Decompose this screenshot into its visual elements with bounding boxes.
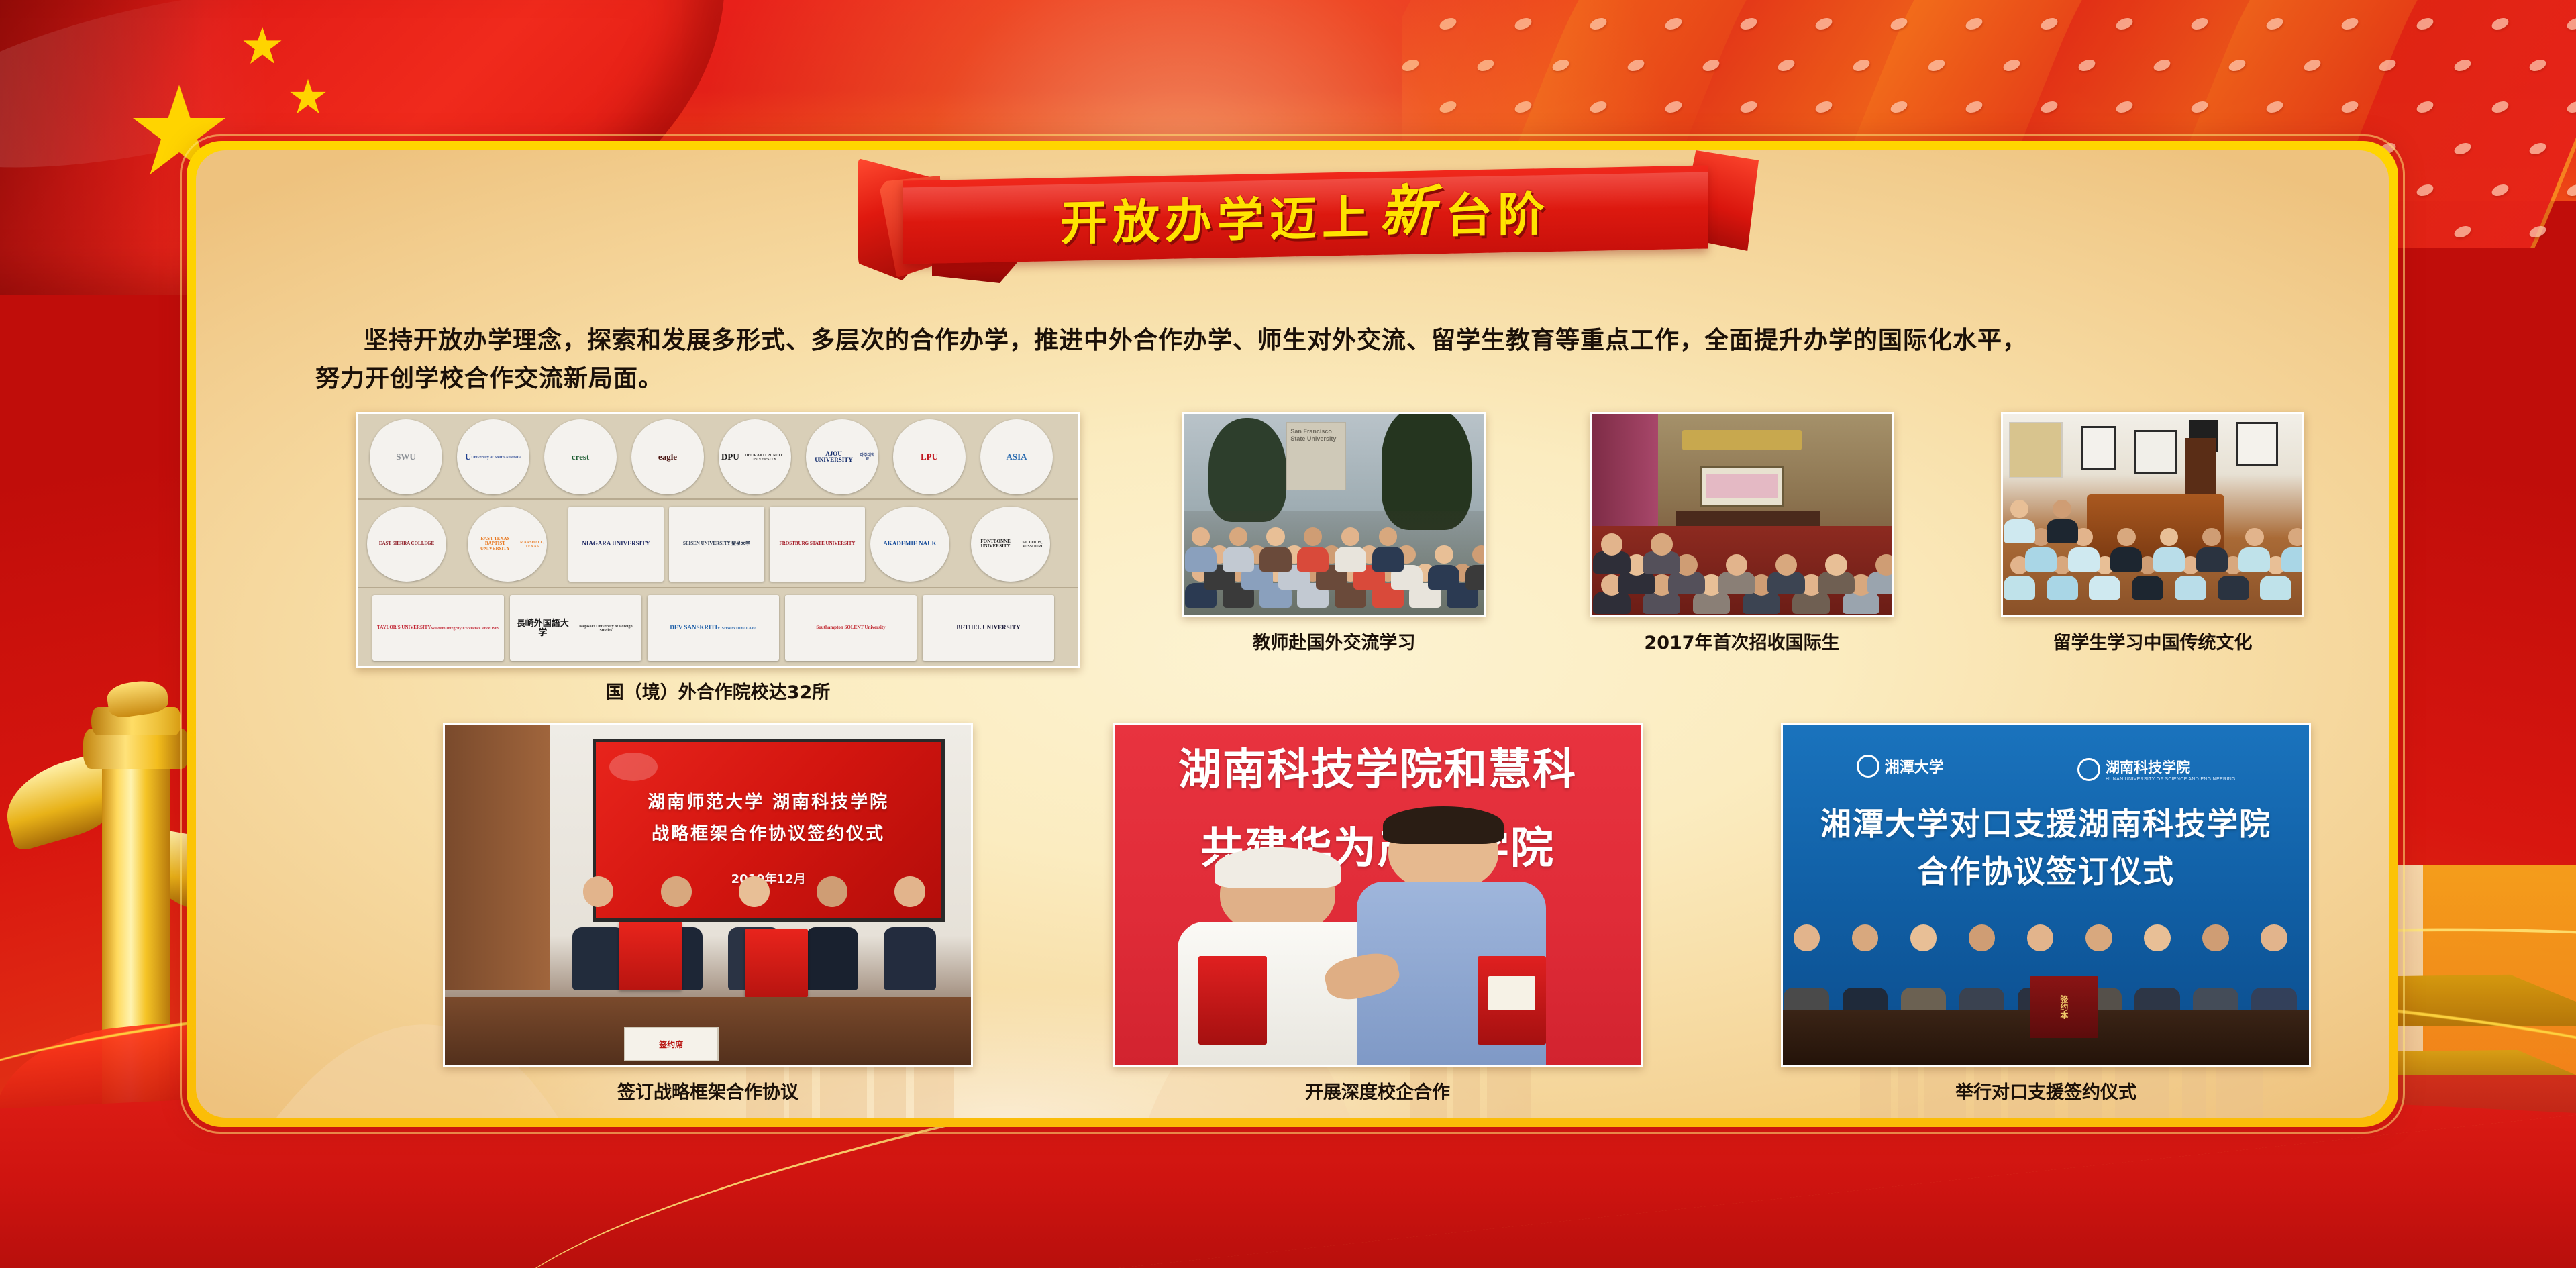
logo-plaque-name: DPU: [721, 452, 739, 462]
logo-plaque-subtitle: Nagasaki University of Foreign Studies: [573, 625, 639, 633]
person-head: [1601, 533, 1622, 555]
logo-plaque-name: LPU: [921, 452, 938, 462]
logo-plaque: EAST SIERRA COLLEGE: [367, 507, 446, 582]
logo-plaque: FONTBONNE UNIVERSITYST. LOUIS, MISSOURI: [971, 507, 1050, 582]
person-body: [2175, 576, 2206, 600]
person-head: [2261, 924, 2287, 951]
logo-plaque-subtitle: MARSHALL, TEXAS: [520, 541, 544, 549]
enterprise-banner-line2: 共建华为产业学院: [1115, 814, 1641, 876]
logo-plaque-name: EAST TEXAS BAPTIST UNIVERSITY: [470, 537, 520, 551]
person-head: [1341, 527, 1359, 545]
person-body: [2047, 576, 2078, 600]
logo-plaque: SEISEN UNIVERSITY 聖泉大学: [669, 507, 764, 582]
logo-plaque: DEV SANSKRITIVISHWAVIDYALAYA: [648, 595, 779, 661]
huse-logo-label: 湖南科技学院: [2106, 757, 2236, 777]
person-body: [2089, 576, 2120, 600]
logo-plaque: SWU: [370, 419, 442, 494]
person-head: [2202, 924, 2229, 951]
propaganda-board: 世界人民大团结万岁: [0, 0, 2576, 1268]
logo-plaque-name: AKADEMIE NAUK: [883, 541, 936, 547]
logo-plaque-name: DEV SANSKRITI: [670, 625, 717, 631]
photo-counterpart-support-signing: 湘潭大学 湖南科技学院 HUNAN UNIVERSITY OF SCIENCE …: [1781, 723, 2311, 1067]
person-head: [739, 876, 769, 906]
title-ribbon: 开放办学迈上 新 台阶: [862, 158, 1748, 279]
logo-plaque: BETHEL UNIVERSITY: [923, 595, 1054, 661]
person-figure: [1867, 554, 1894, 592]
board-paragraph: 坚持开放办学理念，探索和发展多形式、多层次的合作办学，推进中外合作办学、师生对外…: [315, 322, 2302, 399]
caption-teachers-abroad: 教师赴国外交流学习: [1182, 628, 1486, 654]
person-head: [1852, 924, 1879, 951]
logo-plaque: AJOU UNIVERSITY아주대학교: [806, 419, 878, 494]
person-figure: [1465, 545, 1486, 588]
caption-school-enterprise-cooperation: 开展深度校企合作: [1113, 1077, 1643, 1104]
photo-strategic-framework-signing: 湖南师范大学 湖南科技学院 战略框架合作协议签约仪式 2019年12月 签约席: [443, 723, 973, 1067]
logo-plaque-name: TAYLOR'S UNIVERSITY: [377, 625, 431, 630]
person-head: [1651, 533, 1672, 555]
logo-plaque-subtitle: Wisdom Integrity Excellence since 1969: [431, 627, 499, 631]
person-figure: [2153, 528, 2185, 570]
logo-plaque: AKADEMIE NAUK: [870, 507, 949, 582]
caption-counterpart-support-signing: 举行对口支援签约仪式: [1781, 1077, 2311, 1104]
person-body: [2218, 576, 2249, 600]
logo-plaque-name: U: [465, 452, 471, 462]
photo-first-intl-students: [1590, 412, 1894, 617]
person-head: [817, 876, 847, 906]
logo-plaque: eagle: [631, 419, 704, 494]
person-figure: [2110, 528, 2143, 570]
logo-plaque-name: SEISEN UNIVERSITY 聖泉大学: [683, 541, 750, 546]
person-head: [1266, 527, 1284, 545]
person-head: [2288, 528, 2304, 546]
logo-plaque-name: ASIA: [1006, 452, 1027, 462]
person-body: [2047, 519, 2078, 543]
person-body: [1223, 547, 1254, 572]
person-head: [2202, 528, 2220, 546]
person-figure: [1592, 533, 1631, 572]
logo-plaque-name: BETHEL UNIVERSITY: [956, 625, 1020, 631]
logo-plaque: FROSTBURG STATE UNIVERSITY: [770, 507, 865, 582]
logo-plaque-name: NIAGARA UNIVERSITY: [582, 541, 650, 547]
person-head: [2085, 924, 2112, 951]
person-body: [2004, 519, 2035, 543]
person-body: [1465, 565, 1486, 590]
signing-desk-card: 签约席: [624, 1027, 719, 1061]
caption-logo-wall: 国（境）外合作院校达32所: [356, 678, 1080, 704]
person-figure: [2281, 528, 2304, 570]
logo-plaque-name: eagle: [658, 452, 677, 462]
person-head: [1969, 924, 1996, 951]
person-body: [2281, 547, 2304, 572]
person-body: [1372, 547, 1404, 572]
caption-intl-students-culture: 留学生学习中国传统文化: [2001, 628, 2304, 654]
person-head: [1379, 527, 1397, 545]
logo-plaque-name: FONTBONNE UNIVERSITY: [974, 539, 1017, 549]
person-head: [1726, 554, 1747, 576]
photo-school-enterprise-cooperation: 湖南科技学院和慧科 共建华为产业学院: [1113, 723, 1643, 1067]
counterpart-banner-line1: 湘潭大学对口支援湖南科技学院: [1783, 800, 2309, 844]
counterpart-folder-label: 签约本: [2030, 976, 2098, 1037]
person-head: [894, 876, 925, 906]
sfsu-sign-text: San Francisco State University: [1290, 428, 1341, 480]
logo-plaque: ASIA: [980, 419, 1053, 494]
person-figure: [571, 876, 625, 986]
board-title: 开放办学迈上 新 台阶: [903, 165, 1708, 264]
person-head: [2053, 500, 2071, 518]
person-figure: [1427, 545, 1460, 588]
person-head: [1192, 527, 1210, 545]
person-body: [1297, 547, 1329, 572]
person-figure: [1817, 554, 1856, 592]
person-figure: [1184, 527, 1217, 570]
person-body: [1428, 565, 1459, 590]
content-panel: 开放办学迈上 新 台阶 坚持开放办学理念，探索和发展多形式、多层次的合作办学，推…: [196, 150, 2389, 1118]
person-head: [1435, 545, 1453, 564]
person-head: [2245, 528, 2263, 546]
person-head: [1794, 924, 1820, 951]
paragraph-line-1: 坚持开放办学理念，探索和发展多形式、多层次的合作办学，推进中外合作办学、师生对外…: [315, 322, 2302, 360]
person-figure: [2196, 528, 2228, 570]
person-body: [2238, 547, 2270, 572]
logo-plaque-subtitle: DHURAKIJ PUNDIT UNIVERSITY: [739, 454, 788, 462]
person-head: [2144, 924, 2171, 951]
logo-plaque: UUniversity of South Australia: [457, 419, 529, 494]
paragraph-line-2: 努力开创学校合作交流新局面。: [315, 360, 2302, 399]
person-figure: [1296, 527, 1329, 570]
logo-plaque: TAYLOR'S UNIVERSITYWisdom Integrity Exce…: [372, 595, 504, 661]
person-head: [2160, 528, 2178, 546]
person-body: [1185, 547, 1217, 572]
board-title-main: 开放办学迈上: [1060, 180, 1374, 254]
logo-plaque-subtitle: 아주대학교: [859, 454, 876, 462]
person-body: [2132, 576, 2163, 600]
person-head: [1229, 527, 1247, 545]
person-head: [1472, 545, 1486, 564]
caption-strategic-framework-signing: 签订战略框架合作协议: [443, 1077, 973, 1104]
logo-plaque-name: AJOU UNIVERSITY: [809, 451, 859, 464]
person-body: [1335, 547, 1366, 572]
counterpart-banner-line2: 合作协议签订仪式: [1783, 847, 2309, 892]
person-figure: [1259, 527, 1292, 570]
logo-plaque-name: FROSTBURG STATE UNIVERSITY: [780, 541, 856, 546]
person-body: [2260, 576, 2291, 600]
logo-plaque: DPUDHURAKIJ PUNDIT UNIVERSITY: [719, 419, 791, 494]
person-figure: [1372, 527, 1404, 570]
person-figure: [1767, 554, 1806, 592]
logo-plaque: NIAGARA UNIVERSITY: [568, 507, 664, 582]
person-head: [1304, 527, 1322, 545]
logo-plaque: crest: [544, 419, 617, 494]
logo-plaque: Southampton SOLENT University: [785, 595, 917, 661]
person-body: [2068, 547, 2100, 572]
xiangtan-logo-label: 湘潭大学: [1885, 755, 1944, 777]
person-body: [884, 927, 936, 991]
photo-intl-students-culture: [2001, 412, 2304, 617]
logo-plaque: LPU: [893, 419, 966, 494]
person-figure: [1717, 554, 1756, 592]
flag-star-small-1: [242, 25, 283, 67]
person-body: [806, 927, 858, 991]
person-figure: [1642, 533, 1681, 572]
enterprise-banner-line1: 湖南科技学院和慧科: [1115, 735, 1641, 797]
logo-plaque-name: Southampton SOLENT University: [816, 625, 885, 630]
huse-logo-label-en: HUNAN UNIVERSITY OF SCIENCE AND ENGINEER…: [2106, 777, 2236, 782]
person-body: [2196, 547, 2228, 572]
person-figure: [2046, 500, 2079, 542]
person-figure: [1222, 527, 1255, 570]
person-figure: [882, 876, 937, 986]
person-body: [2110, 547, 2142, 572]
logo-plaque-subtitle: VISHWAVIDYALAYA: [717, 627, 757, 631]
person-head: [2010, 500, 2028, 518]
person-head: [1825, 554, 1847, 576]
logo-plaque-name: crest: [572, 452, 589, 462]
person-body: [2025, 547, 2057, 572]
person-figure: [805, 876, 859, 986]
person-figure: [1334, 527, 1367, 570]
person-body: [572, 927, 625, 991]
person-head: [2027, 924, 2054, 951]
person-figure: [2238, 528, 2271, 570]
logo-plaque: 長崎外国語大学Nagasaki University of Foreign St…: [510, 595, 641, 661]
person-head: [1910, 924, 1937, 951]
signing-screen-line1: 湖南师范大学 湖南科技学院: [596, 788, 941, 813]
flag-star-small-2: [289, 78, 327, 117]
person-head: [583, 876, 613, 906]
photo-logo-wall: SWUUUniversity of South Australiacrestea…: [356, 412, 1080, 668]
person-body: [2004, 576, 2035, 600]
person-head: [2117, 528, 2135, 546]
person-head: [1875, 554, 1894, 576]
logo-plaque-subtitle: ST. LOUIS, MISSOURI: [1017, 541, 1047, 549]
person-figure: [2003, 500, 2036, 542]
logo-plaque-name: 長崎外国語大学: [513, 619, 573, 637]
board-title-tail: 台阶: [1445, 176, 1550, 246]
board-title-cursive: 新: [1374, 165, 1445, 246]
person-head: [661, 876, 691, 906]
caption-first-intl-students: 2017年首次招收国际生: [1590, 628, 1894, 654]
logo-plaque-name: EAST SIERRA COLLEGE: [379, 541, 434, 546]
photo-teachers-abroad: San Francisco State University: [1182, 412, 1486, 617]
logo-plaque-name: SWU: [396, 452, 416, 462]
person-body: [2153, 547, 2185, 572]
logo-plaque: EAST TEXAS BAPTIST UNIVERSITYMARSHALL, T…: [468, 507, 547, 582]
logo-plaque-subtitle: University of South Australia: [471, 456, 521, 460]
person-body: [1259, 547, 1291, 572]
